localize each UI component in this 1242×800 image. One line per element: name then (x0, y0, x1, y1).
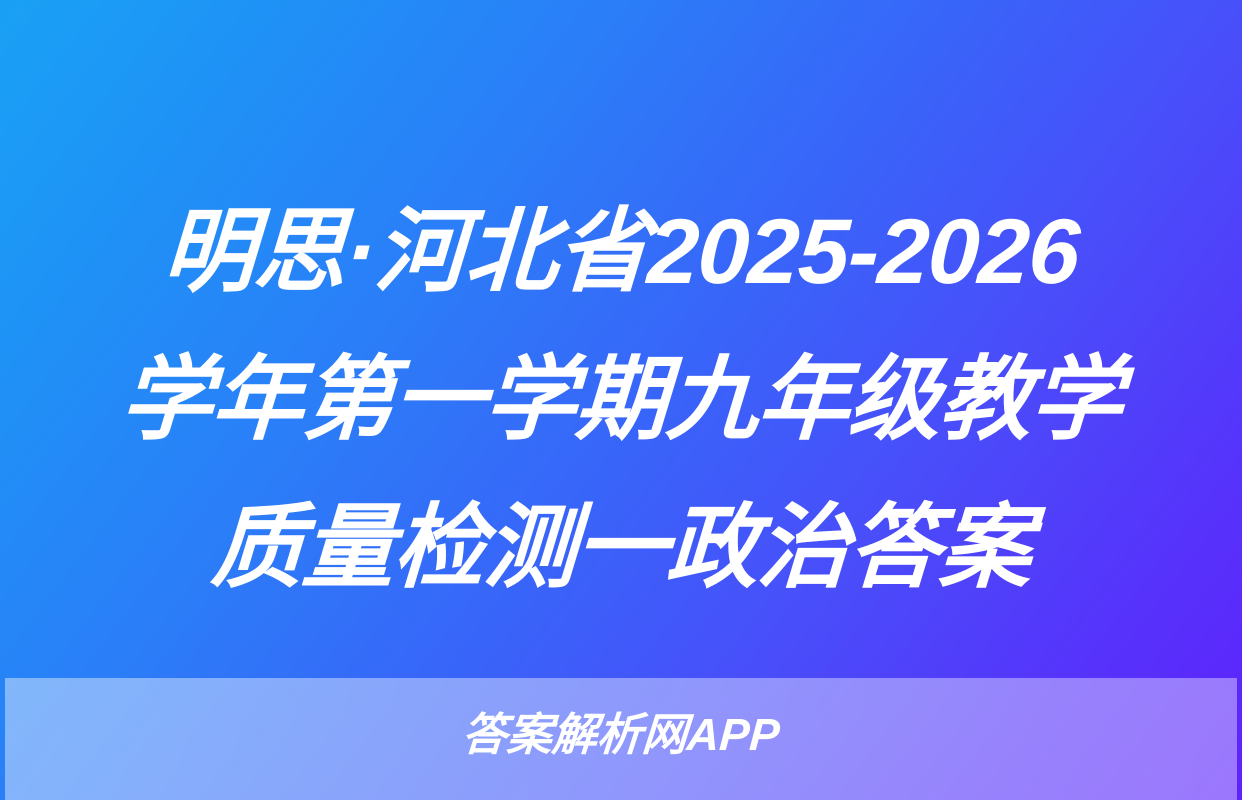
headline: 明思·河北省2025-2026 学年第一学期九年级教学 质量检测一政治答案 (0, 178, 1242, 622)
brand-wordmark-label: 答案解析网APP (460, 705, 782, 765)
headline-line-2: 学年第一学期九年级教学 (0, 326, 1242, 474)
headline-line-3: 质量检测一政治答案 (0, 474, 1242, 622)
headline-line-1: 明思·河北省2025-2026 (0, 178, 1242, 326)
banner-image: 明思·河北省2025-2026 学年第一学期九年级教学 质量检测一政治答案 答案… (0, 0, 1242, 800)
brand-wordmark: 答案解析网APP (0, 705, 1242, 765)
